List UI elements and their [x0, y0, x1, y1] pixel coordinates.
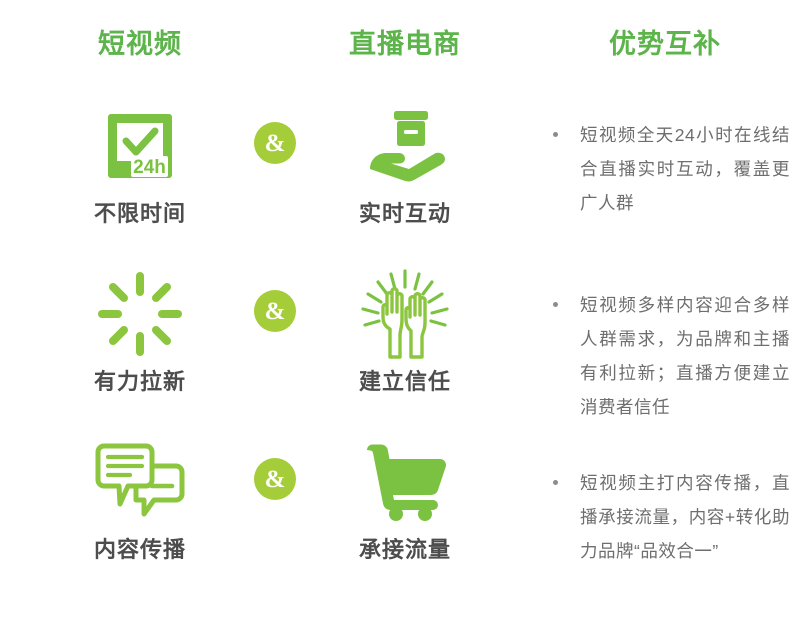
bullet-item: 短视频主打内容传播，直播承接流量，内容+转化助力品牌“品效合一” [540, 466, 790, 616]
bullet-text: 短视频多样内容迎合多样人群需求，为品牌和主播有利拉新；直播方便建立消费者信任 [580, 295, 790, 417]
connector-ampersand-badge: & [254, 458, 296, 500]
sunburst-spark-icon [45, 268, 235, 360]
bullet-dot-icon [553, 132, 558, 137]
feature-cell-content-spread: 内容传播 [45, 436, 235, 596]
clock-24h-check-icon: 24h [45, 100, 235, 192]
bullet-dot-icon [553, 302, 558, 307]
column-headers: 短视频 直播电商 优势互补 [0, 22, 809, 68]
feature-cell-traffic-conversion: 承接流量 [310, 436, 500, 596]
feature-cell-build-trust: 建立信任 [310, 268, 500, 428]
feature-label: 不限时间 [45, 196, 235, 228]
column-header-short-video: 短视频 [45, 22, 235, 61]
bullet-text: 短视频主打内容传播，直播承接流量，内容+转化助力品牌“品效合一” [580, 473, 790, 561]
bullet-dot-icon [553, 480, 558, 485]
slide-root: 短视频 直播电商 优势互补 24h 不限时间 & [0, 0, 809, 622]
bullet-text: 短视频全天24小时在线结合直播实时互动，覆盖更广人群 [580, 125, 790, 213]
feature-label: 有力拉新 [45, 364, 235, 396]
column-header-live-ecommerce: 直播电商 [310, 22, 500, 61]
advantages-bullet-list: 短视频全天24小时在线结合直播实时互动，覆盖更广人群 短视频多样内容迎合多样人群… [540, 118, 790, 616]
connector-ampersand-badge: & [254, 290, 296, 332]
feature-label: 建立信任 [310, 364, 500, 396]
bullet-item: 短视频全天24小时在线结合直播实时互动，覆盖更广人群 [540, 118, 790, 288]
feature-label: 内容传播 [45, 532, 235, 564]
feature-cell-realtime-interaction: 实时互动 [310, 100, 500, 260]
feature-cell-strong-acquisition: 有力拉新 [45, 268, 235, 428]
svg-text:24h: 24h [133, 157, 166, 178]
raised-hands-icon [310, 268, 500, 360]
bullet-item: 短视频多样内容迎合多样人群需求，为品牌和主播有利拉新；直播方便建立消费者信任 [540, 288, 790, 466]
feature-label: 承接流量 [310, 532, 500, 564]
shopping-cart-icon [310, 436, 500, 528]
chat-bubbles-icon [45, 436, 235, 528]
feature-label: 实时互动 [310, 196, 500, 228]
feature-cell-unlimited-time: 24h 不限时间 [45, 100, 235, 260]
hand-holding-box-icon [310, 100, 500, 192]
column-header-complementary-advantages: 优势互补 [570, 22, 760, 61]
connector-ampersand-badge: & [254, 122, 296, 164]
